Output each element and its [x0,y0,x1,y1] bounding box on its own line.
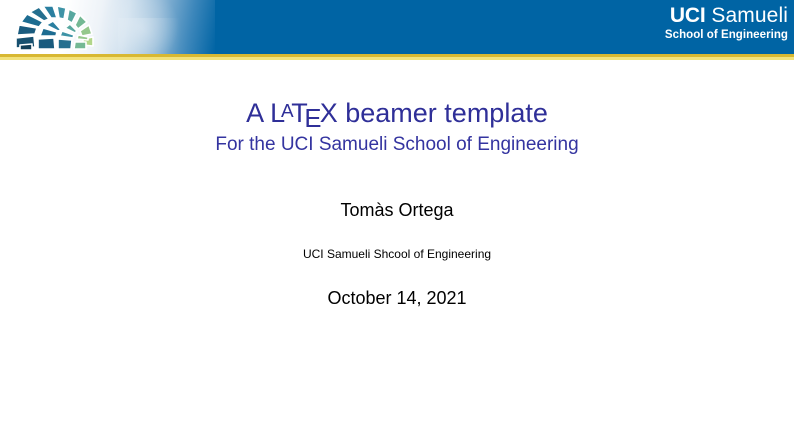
presentation-slide: UCI Samueli School of Engineering A LATE… [0,0,794,447]
title-block: A LATEX beamer template For the UCI Samu… [0,98,794,156]
wordmark-uci-text: UCI [670,4,706,27]
date-block: October 14, 2021 [0,288,794,310]
title-suffix: beamer template [338,98,548,128]
latex-logo: LATEX [270,98,338,128]
latex-letter-e: E [304,105,321,133]
uci-samueli-wordmark: UCI Samueli School of Engineering [665,5,788,42]
latex-letter-a: A [281,101,294,122]
title-prefix: A [246,98,270,128]
author-block: Tomàs Ortega [0,200,794,222]
header-gold-rule-light [0,57,794,60]
slide-subtitle: For the UCI Samueli School of Engineerin… [0,134,794,156]
uci-samueli-fan-logo [12,4,112,52]
author-name: Tomàs Ortega [0,200,794,222]
wordmark-school-text: School of Engineering [665,30,788,42]
wordmark-primary-line: UCI Samueli [665,5,788,26]
latex-letter-x: X [320,98,338,128]
institute-name: UCI Samueli Shcool of Engineering [0,247,794,261]
slide-date: October 14, 2021 [0,288,794,310]
slide-header-band: UCI Samueli School of Engineering [0,0,794,54]
wordmark-samueli-text: Samueli [711,4,788,27]
slide-title: A LATEX beamer template [0,98,794,129]
institute-block: UCI Samueli Shcool of Engineering [0,247,794,261]
